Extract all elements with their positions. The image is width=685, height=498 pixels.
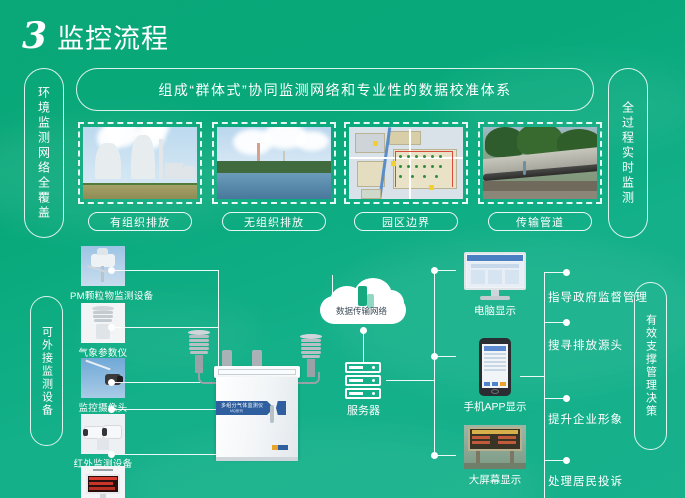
label-network-coverage: 环境监测网络全覆盖 — [24, 68, 64, 238]
connector-node — [108, 451, 115, 458]
device-label: PM颗粒物监测设备 — [70, 288, 136, 302]
desktop-monitor-icon — [464, 252, 526, 300]
device-item-camera[interactable]: 监控摄像头 — [70, 358, 136, 414]
banner-headline: 组成“群体式”协同监测网络和专业性的数据校准体系 — [76, 68, 594, 111]
cabinet-title: 多组分气体监测仪 — [221, 402, 263, 409]
label-realtime-monitoring: 全过程实时监测 — [608, 68, 648, 238]
device-label: 气象参数仪 — [70, 345, 136, 359]
cabinet-brand-band: 多组分气体监测仪 MQ系列 — [216, 401, 274, 415]
cabinet-subtitle: MQ系列 — [230, 409, 243, 414]
left-connector-branch — [112, 454, 218, 455]
photo-card-fugitive-emission — [212, 122, 336, 204]
photo-card-organized-emission — [78, 122, 202, 204]
banner-headline-text: 组成“群体式”协同监测网络和专业性的数据校准体系 — [158, 80, 511, 100]
connector-node — [108, 324, 115, 331]
benefit-connector-trunk — [544, 272, 545, 498]
infographic-canvas: 3 监控流程 环境监测网络全覆盖 组成“群体式”协同监测网络和专业性的数据校准体… — [0, 0, 685, 498]
label-realtime-monitoring-text: 全过程实时监测 — [620, 101, 637, 206]
device-item-pm[interactable]: PM颗粒物监测设备 — [70, 246, 136, 302]
label-external-devices: 可外接监测设备 — [30, 296, 63, 446]
output-label: 大屏幕显示 — [450, 472, 540, 487]
weather-station-left-icon — [188, 330, 210, 376]
cloud-server-link — [363, 330, 364, 362]
infrared-camera-icon — [81, 414, 125, 454]
photo-caption-transport-pipeline: 传输管道 — [488, 212, 592, 231]
connector-node — [360, 327, 367, 334]
photo-park-map — [349, 127, 463, 199]
label-decision-support: 有效支撑管理决策 — [634, 282, 667, 450]
output-label: 手机APP显示 — [450, 399, 540, 414]
pm-sensor-icon — [81, 246, 125, 286]
photo-pipeline — [483, 127, 597, 199]
connector-node — [108, 406, 115, 413]
output-label: 电脑显示 — [450, 303, 540, 318]
photo-card-transport-pipeline — [478, 122, 602, 204]
server-to-output-link — [386, 380, 434, 381]
output-connector-trunk — [434, 270, 435, 455]
label-network-coverage-text: 环境监测网络全覆盖 — [36, 86, 53, 221]
cctv-camera-icon — [81, 358, 125, 398]
cabinet-handle — [270, 405, 274, 423]
page-header: 3 监控流程 — [22, 18, 169, 54]
noise-display-icon — [81, 466, 125, 498]
device-item-noise[interactable]: 噪音监测设备 — [70, 466, 136, 498]
photo-caption-fugitive-emission: 无组织排放 — [222, 212, 326, 231]
cloud-label: 数据传输网络 — [336, 305, 387, 317]
device-item-infrared[interactable]: 红外监测设备 — [70, 414, 136, 470]
photo-industrial-skyline — [217, 127, 331, 199]
connector-node — [563, 319, 570, 326]
cabinet-logo — [272, 445, 292, 451]
server-icon — [345, 362, 381, 400]
server-label: 服务器 — [347, 402, 380, 418]
photo-caption-organized-emission: 有组织排放 — [88, 212, 192, 231]
cloud-network-icon — [320, 278, 406, 324]
cabinet-base — [216, 457, 298, 461]
benefit-item-gov-supervision: 指导政府监督管理 — [548, 289, 648, 305]
section-number: 3 — [22, 18, 47, 54]
benefit-item-find-source: 搜寻排放源头 — [548, 337, 623, 353]
connector-node — [431, 452, 438, 459]
benefit-input-link — [520, 376, 544, 377]
cabinet-top-slot — [218, 369, 296, 375]
benefit-item-resident-complaint: 处理居民投诉 — [548, 473, 623, 489]
connector-node — [108, 379, 115, 386]
benefit-item-brand-image: 提升企业形象 — [548, 411, 623, 427]
smartphone-icon — [479, 338, 511, 396]
left-connector-branch — [112, 270, 218, 271]
device-label: 监控摄像头 — [70, 400, 136, 414]
device-item-weather[interactable]: 气象参数仪 — [70, 303, 136, 359]
label-decision-support-text: 有效支撑管理决策 — [643, 314, 659, 418]
led-billboard-icon — [464, 425, 526, 469]
output-item-desktop[interactable]: 电脑显示 — [450, 252, 540, 318]
photo-caption-park-boundary: 园区边界 — [354, 212, 458, 231]
connector-node — [563, 269, 570, 276]
connector-node — [431, 267, 438, 274]
connector-node — [563, 457, 570, 464]
connector-node — [563, 395, 570, 402]
label-external-devices-text: 可外接监测设备 — [39, 326, 55, 417]
monitoring-cabinet[interactable]: 多组分气体监测仪 MQ系列 — [216, 377, 298, 457]
connector-node — [431, 353, 438, 360]
weather-sensor-icon — [81, 303, 125, 343]
left-connector-branch — [112, 409, 218, 410]
connector-node — [108, 267, 115, 274]
cabinet-brand-arrow — [276, 401, 286, 415]
photo-card-park-boundary — [344, 122, 468, 204]
output-item-bigscreen[interactable]: 大屏幕显示 — [450, 425, 540, 487]
photo-power-plant — [83, 127, 197, 199]
left-connector-branch — [112, 327, 218, 328]
page-title: 监控流程 — [57, 26, 169, 53]
